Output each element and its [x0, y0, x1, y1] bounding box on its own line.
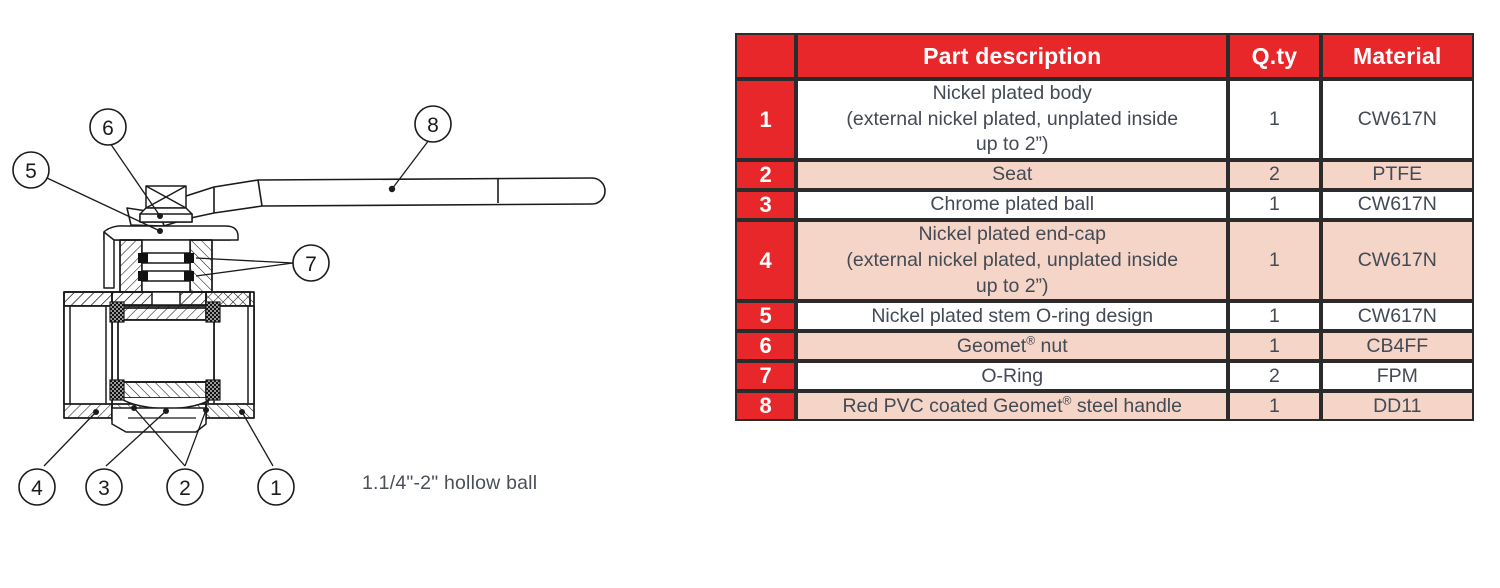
table-header-row: Part description Q.ty Material [735, 33, 1474, 79]
row-index-cell: 6 [735, 331, 796, 361]
row-material-cell: CB4FF [1321, 331, 1474, 361]
callout-label-6: 6 [102, 117, 114, 140]
table-row: 5Nickel plated stem O-ring design1CW617N [735, 301, 1474, 331]
callout-label-8: 8 [427, 114, 439, 137]
row-qty-cell: 1 [1228, 220, 1320, 301]
row-index-cell: 3 [735, 190, 796, 220]
callout-label-5: 5 [25, 160, 37, 183]
table-row: 1Nickel plated body(external nickel plat… [735, 79, 1474, 160]
row-description-cell: Nickel plated end-cap(external nickel pl… [796, 220, 1228, 301]
row-description-cell: Geomet® nut [796, 331, 1228, 361]
callout-bubble-3: 3 [86, 469, 122, 505]
parts-table-container: Part description Q.ty Material 1Nickel p… [735, 33, 1474, 421]
parts-table-body: 1Nickel plated body(external nickel plat… [735, 79, 1474, 421]
row-material-cell: DD11 [1321, 391, 1474, 421]
callout-label-2: 2 [179, 477, 191, 500]
callout-label-4: 4 [31, 477, 43, 500]
header-material: Material [1321, 33, 1474, 79]
parts-table-header: Part description Q.ty Material [735, 33, 1474, 79]
row-qty-cell: 2 [1228, 361, 1320, 391]
handle-part [160, 178, 605, 226]
valve-drawing-panel: 5 6 7 8 4 3 2 [0, 0, 720, 588]
header-part-description: Part description [796, 33, 1228, 79]
row-index-cell: 4 [735, 220, 796, 301]
header-qty: Q.ty [1228, 33, 1320, 79]
callout-bubble-1: 1 [258, 469, 294, 505]
row-material-cell: CW617N [1321, 79, 1474, 160]
row-material-cell: CW617N [1321, 220, 1474, 301]
callout-bubble-5: 5 [13, 152, 49, 188]
callout-bubble-4: 4 [19, 469, 55, 505]
row-qty-cell: 1 [1228, 301, 1320, 331]
parts-table: Part description Q.ty Material 1Nickel p… [735, 33, 1474, 421]
drawing-caption: 1.1/4"-2" hollow ball [362, 472, 537, 495]
row-description-cell: Chrome plated ball [796, 190, 1228, 220]
table-row: 3Chrome plated ball1CW617N [735, 190, 1474, 220]
row-qty-cell: 1 [1228, 79, 1320, 160]
row-material-cell: CW617N [1321, 190, 1474, 220]
row-qty-cell: 2 [1228, 160, 1320, 190]
row-description-cell: Nickel plated body(external nickel plate… [796, 79, 1228, 160]
table-row: 6Geomet® nut1CB4FF [735, 331, 1474, 361]
table-row: 8Red PVC coated Geomet® steel handle1DD1… [735, 391, 1474, 421]
row-qty-cell: 1 [1228, 391, 1320, 421]
callout-bubble-6: 6 [90, 109, 126, 145]
ball-part [118, 292, 214, 409]
row-index-cell: 1 [735, 79, 796, 160]
table-row: 2Seat2PTFE [735, 160, 1474, 190]
stem-nut-part [140, 186, 192, 222]
row-qty-cell: 1 [1228, 190, 1320, 220]
callout-bubble-7: 7 [293, 245, 329, 281]
row-index-cell: 8 [735, 391, 796, 421]
callout-label-3: 3 [98, 477, 110, 500]
row-description-cell: Red PVC coated Geomet® steel handle [796, 391, 1228, 421]
header-index-corner [735, 33, 796, 79]
end-cap-part [112, 408, 206, 432]
row-description-cell: O-Ring [796, 361, 1228, 391]
row-qty-cell: 1 [1228, 331, 1320, 361]
callout-label-1: 1 [270, 477, 282, 500]
row-material-cell: FPM [1321, 361, 1474, 391]
callout-bubble-2: 2 [167, 469, 203, 505]
row-description-cell: Seat [796, 160, 1228, 190]
callout-bubble-8: 8 [415, 106, 451, 142]
row-description-cell: Nickel plated stem O-ring design [796, 301, 1228, 331]
row-material-cell: PTFE [1321, 160, 1474, 190]
ball-valve-cross-section-drawing: 5 6 7 8 4 3 2 [0, 0, 720, 588]
table-row: 4Nickel plated end-cap(external nickel p… [735, 220, 1474, 301]
row-index-cell: 7 [735, 361, 796, 391]
row-index-cell: 2 [735, 160, 796, 190]
row-index-cell: 5 [735, 301, 796, 331]
callout-label-7: 7 [305, 253, 317, 276]
table-row: 7O-Ring2FPM [735, 361, 1474, 391]
row-material-cell: CW617N [1321, 301, 1474, 331]
